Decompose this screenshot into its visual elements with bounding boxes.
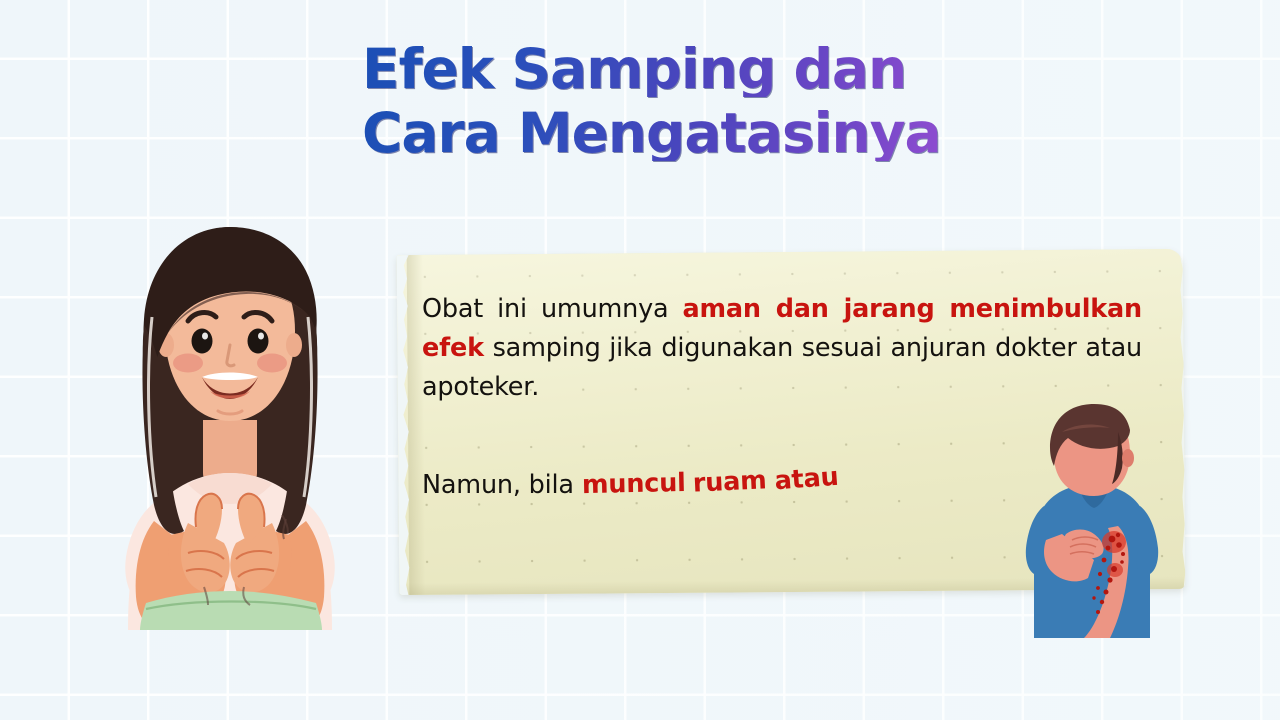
title-line-1: Efek Samping dan [362,42,1122,97]
paragraph-2-part-1: Namun, bila [422,470,582,500]
paragraph-2-highlight-word-2: ruam [692,461,767,503]
title-line-2: Cara Mengatasinya [362,106,1122,161]
woman-thumbs-up-illustration [96,205,364,630]
slide-canvas: Efek Samping dan Cara Mengatasinya Obat … [0,0,1280,720]
paragraph-2-highlight-word-3: atau [773,458,840,502]
boy-scratching-rash-illustration [1022,402,1172,638]
paragraph-1-part-3: samping jika digunakan sesuai anjuran do… [422,333,1142,402]
paragraph-2-highlight-word-1: muncul [581,464,685,505]
page-title: Efek Samping dan Cara Mengatasinya [362,42,1122,170]
paragraph-1-part-1: Obat ini umumnya [422,294,683,324]
paragraph-1: Obat ini umumnya aman dan jarang menimbu… [422,290,1142,407]
